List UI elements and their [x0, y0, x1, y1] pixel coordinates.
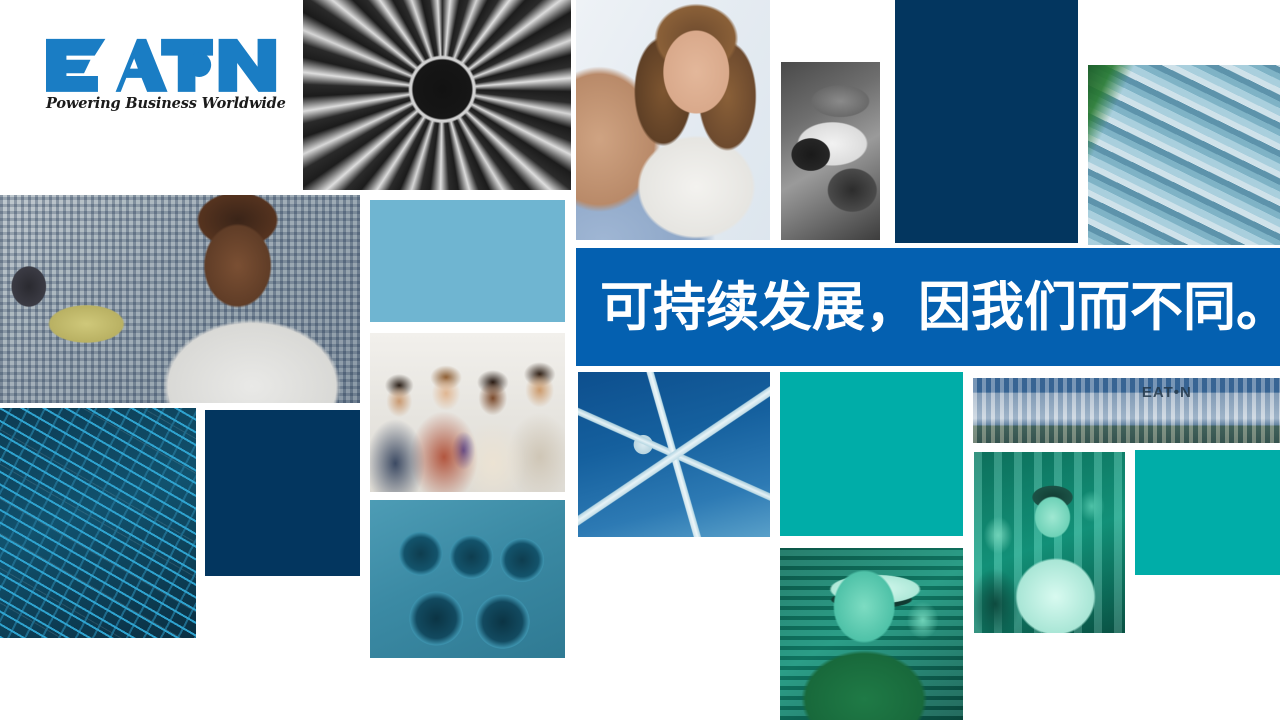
img-connector	[370, 500, 565, 658]
img-aerial-city	[1088, 65, 1280, 245]
headline-text: 可持续发展，因我们而不同。*	[600, 281, 1280, 334]
block-navy-top	[895, 0, 1078, 243]
eaton-logo-block: Powering Business Worldwide	[0, 0, 300, 190]
img-vr-technician	[780, 548, 963, 720]
img-colleagues-teal	[974, 452, 1125, 633]
cover-stage: Powering Business Worldwide EAT•N 可持续发展，…	[0, 0, 1280, 720]
eaton-wordmark-icon	[46, 38, 278, 93]
img-students	[370, 333, 565, 492]
building-eaton-sign: EAT•N	[1142, 384, 1192, 401]
img-factory-worker	[0, 195, 360, 403]
block-teal-mid	[780, 372, 963, 536]
eaton-logo-tagline: Powering Business Worldwide	[46, 95, 278, 112]
img-ev-charger	[781, 62, 880, 240]
img-jet-engine	[303, 0, 571, 190]
block-teal-right	[1135, 450, 1280, 575]
img-two-colleagues	[576, 0, 770, 240]
block-navy-left	[205, 410, 360, 576]
block-lightblue	[370, 200, 565, 322]
img-eaton-building: EAT•N	[973, 378, 1280, 443]
headline-banner: 可持续发展，因我们而不同。*	[576, 248, 1280, 366]
img-circuit-board	[0, 408, 196, 638]
eaton-logo: Powering Business Worldwide	[46, 38, 278, 112]
img-wind-turbine	[578, 372, 770, 537]
